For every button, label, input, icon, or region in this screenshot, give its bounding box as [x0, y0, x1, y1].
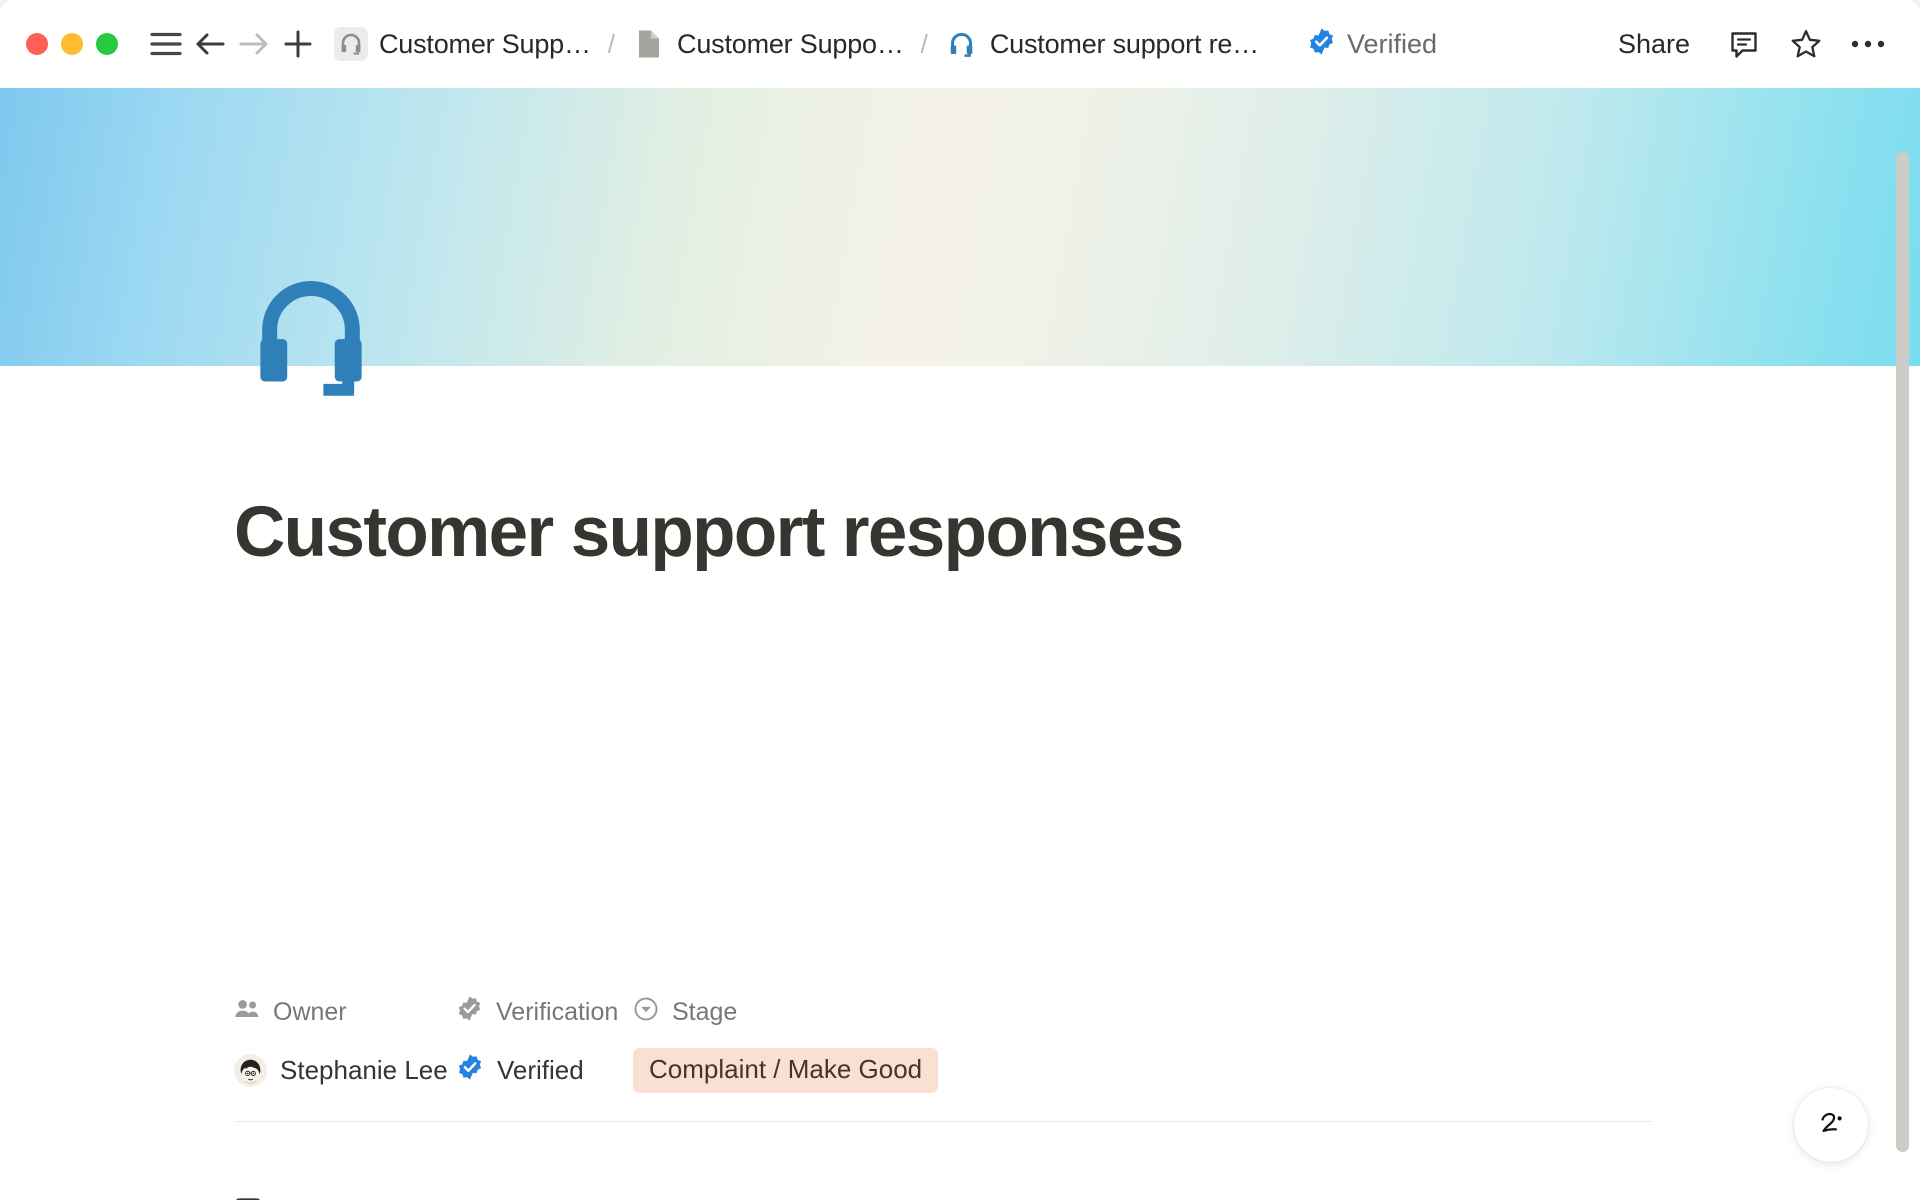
people-icon — [234, 998, 260, 1027]
breadcrumb-item-0[interactable]: Customer Supp… — [328, 23, 597, 65]
property-label-text: Stage — [672, 998, 737, 1027]
property-values-row: Stephanie Lee Verified Complaint / Make — [234, 1048, 938, 1093]
property-value-text: Stephanie Lee — [280, 1055, 448, 1086]
toolbar-actions: Share — [1600, 18, 1894, 70]
property-label-owner[interactable]: Owner — [234, 998, 456, 1027]
property-value-owner[interactable]: Stephanie Lee — [234, 1054, 456, 1087]
ai-assistant-button[interactable] — [1794, 1088, 1868, 1162]
arrow-left-icon — [194, 30, 226, 58]
property-label-text: Owner — [273, 998, 347, 1027]
forward-button[interactable] — [232, 22, 276, 66]
verified-badge-icon — [456, 1053, 484, 1088]
page-title[interactable]: Customer support responses — [234, 497, 1183, 568]
property-label-stage[interactable]: Stage — [633, 996, 737, 1029]
ellipsis-icon — [1851, 38, 1885, 50]
scrollbar-thumb[interactable] — [1896, 152, 1909, 1152]
page-body: Customer support responses O — [0, 366, 1920, 1200]
breadcrumb-separator: / — [597, 29, 626, 60]
table-icon — [234, 1194, 262, 1200]
star-icon — [1790, 28, 1822, 60]
new-page-button[interactable] — [276, 22, 320, 66]
maximize-window-button[interactable] — [96, 33, 118, 55]
more-options-button[interactable] — [1842, 18, 1894, 70]
hamburger-menu-icon[interactable] — [144, 22, 188, 66]
ai-assistant-icon — [1811, 1105, 1851, 1145]
back-button[interactable] — [188, 22, 232, 66]
comment-icon — [1728, 28, 1760, 60]
verified-label: Verified — [1347, 29, 1437, 60]
close-window-button[interactable] — [26, 33, 48, 55]
avatar — [234, 1054, 267, 1087]
property-label-verification[interactable]: Verification — [456, 995, 633, 1029]
headset-icon — [334, 27, 368, 61]
plus-icon — [283, 29, 313, 59]
favorite-button[interactable] — [1780, 18, 1832, 70]
verified-status-badge[interactable]: Verified — [1299, 23, 1445, 65]
share-button[interactable]: Share — [1600, 20, 1708, 69]
minimize-window-button[interactable] — [61, 33, 83, 55]
property-value-stage[interactable]: Complaint / Make Good — [633, 1048, 938, 1093]
arrow-right-icon — [238, 30, 270, 58]
document-icon — [632, 27, 666, 61]
breadcrumb-separator: / — [910, 29, 939, 60]
vertical-scrollbar[interactable] — [1896, 96, 1912, 1200]
comment-button[interactable] — [1718, 18, 1770, 70]
title-bar: Customer Supp… / Customer Suppo… / — [0, 0, 1920, 88]
breadcrumb-label: Customer Suppo… — [677, 29, 904, 60]
status-badge: Complaint / Make Good — [633, 1048, 938, 1093]
property-value-verification[interactable]: Verified — [456, 1053, 633, 1088]
verified-badge-icon — [1307, 27, 1336, 61]
property-label-text: Verification — [496, 998, 618, 1027]
database-title-text: Canned responses — [277, 1196, 519, 1200]
app-window: Customer Supp… / Customer Suppo… / — [0, 0, 1920, 1200]
breadcrumb-label: Customer support re… — [990, 29, 1259, 60]
property-labels-row: Owner Verification — [234, 995, 737, 1029]
verified-outline-icon — [456, 995, 483, 1029]
breadcrumb-label: Customer Supp… — [379, 29, 591, 60]
content-divider — [234, 1121, 1652, 1122]
property-value-text: Verified — [497, 1055, 584, 1086]
breadcrumb: Customer Supp… / Customer Suppo… / — [328, 23, 1265, 65]
breadcrumb-item-2[interactable]: Customer support re… — [939, 23, 1265, 65]
select-chevron-icon — [633, 996, 659, 1029]
database-title[interactable]: Canned responses — [234, 1194, 519, 1200]
headset-icon — [945, 27, 979, 61]
breadcrumb-item-1[interactable]: Customer Suppo… — [626, 23, 910, 65]
page-icon-headset-icon[interactable] — [249, 273, 373, 397]
traffic-lights — [26, 33, 118, 55]
